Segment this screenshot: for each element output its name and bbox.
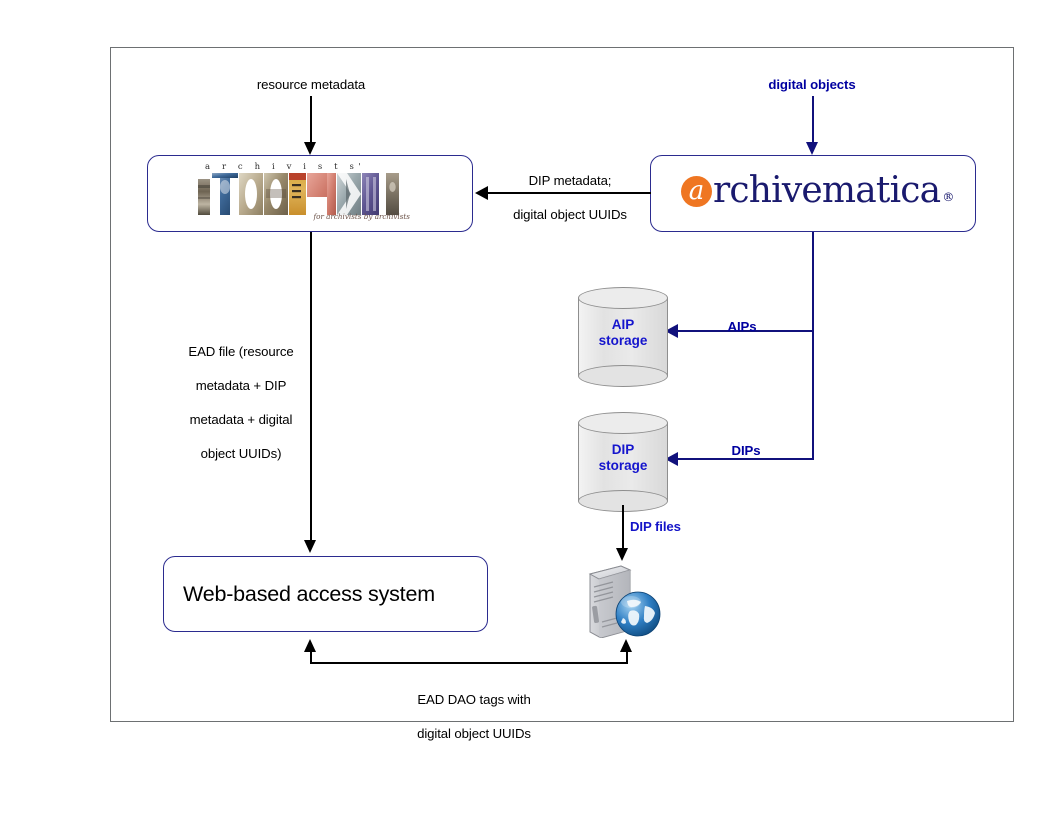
flow-label-ead-file: EAD file (resource metadata + DIP metada…	[168, 326, 314, 479]
flow-label-aips: AIPs	[702, 319, 782, 336]
connector-digital-objects	[812, 96, 814, 143]
web-access-system-label: Web-based access system	[164, 582, 435, 607]
node-aip-storage[interactable]: AIP storage	[578, 287, 668, 387]
flow-label-digital-objects: digital objects	[702, 77, 922, 94]
aip-storage-label-line2: storage	[578, 333, 668, 349]
flow-label-ead-file-line1: EAD file (resource	[168, 343, 314, 360]
arrowhead-ead-file	[304, 540, 316, 553]
diagram-canvas: resource metadata digital objects a r c …	[0, 0, 1056, 816]
glyph-letter-O-1	[239, 173, 263, 215]
node-web-server[interactable]	[583, 556, 665, 638]
connector-dip-metadata	[488, 192, 651, 194]
archivematica-logo: a rchivematica ®	[681, 173, 954, 209]
connector-resource-metadata	[310, 96, 312, 143]
node-web-access-system[interactable]: Web-based access system	[163, 556, 488, 632]
flow-label-ead-dao-line1: EAD DAO tags with	[370, 691, 578, 708]
glyph-letter-K-2	[337, 173, 361, 215]
flow-label-dip-metadata-line2: digital object UUIDs	[480, 206, 660, 223]
archivematica-logo-trademark: ®	[940, 190, 954, 209]
arrowhead-digital-objects	[806, 142, 818, 155]
node-archivematica[interactable]: a rchivematica ®	[650, 155, 976, 232]
connector-ead-file	[310, 232, 312, 541]
flow-label-dip-metadata: DIP metadata; digital object UUIDs	[480, 155, 660, 240]
glyph-letter-O-2	[264, 173, 288, 215]
flow-label-ead-dao-line2: digital object UUIDs	[370, 725, 578, 742]
archivists-toolkit-logo-tagline: for archivists by archivists	[313, 212, 410, 221]
node-archivists-toolkit[interactable]: a r c h i v i s t s'	[147, 155, 473, 232]
aip-storage-cylinder-top	[578, 287, 668, 309]
dip-storage-label-line2: storage	[578, 458, 668, 474]
flow-label-dip-files: DIP files	[630, 519, 720, 536]
archivists-toolkit-logo: a r c h i v i s t s'	[197, 162, 412, 218]
connector-archivematica-trunk	[812, 232, 814, 460]
glyph-letter-T	[212, 173, 238, 215]
glyph-letter-K-1	[307, 173, 336, 215]
node-dip-storage[interactable]: DIP storage	[578, 412, 668, 512]
glyph-letter-T-end	[385, 173, 400, 215]
aip-storage-label-line1: AIP	[578, 317, 668, 333]
flow-label-dip-metadata-line1: DIP metadata;	[480, 172, 660, 189]
server-globe-icon	[583, 556, 665, 638]
flow-label-ead-file-line4: object UUIDs)	[168, 445, 314, 462]
archivists-toolkit-logo-top-text: a r c h i v i s t s'	[205, 162, 405, 172]
dip-storage-cylinder-top	[578, 412, 668, 434]
glyph-letter-I	[362, 173, 384, 215]
flow-label-resource-metadata: resource metadata	[200, 77, 422, 94]
dip-storage-label-line1: DIP	[578, 442, 668, 458]
arrowhead-ead-dao-right	[620, 639, 632, 652]
glyph-letter-L	[289, 173, 306, 215]
aip-storage-cylinder-bottom	[578, 365, 668, 387]
glyph-swatch-1	[197, 173, 211, 215]
arrowhead-ead-dao-left	[304, 639, 316, 652]
arrowhead-dip-metadata	[475, 186, 488, 200]
flow-label-ead-file-line2: metadata + DIP	[168, 377, 314, 394]
archivematica-logo-initial: a	[681, 176, 712, 207]
flow-label-dips: DIPs	[706, 443, 786, 460]
archivematica-logo-word: rchivematica	[713, 173, 940, 209]
dip-storage-label: DIP storage	[578, 442, 668, 474]
arrowhead-resource-metadata	[304, 142, 316, 155]
flow-label-ead-file-line3: metadata + digital	[168, 411, 314, 428]
archivists-toolkit-logo-glyphs	[197, 173, 401, 215]
aip-storage-label: AIP storage	[578, 317, 668, 349]
connector-dip-files	[622, 505, 624, 550]
connector-ead-dao	[310, 662, 628, 664]
flow-label-ead-dao: EAD DAO tags with digital object UUIDs	[370, 674, 578, 759]
